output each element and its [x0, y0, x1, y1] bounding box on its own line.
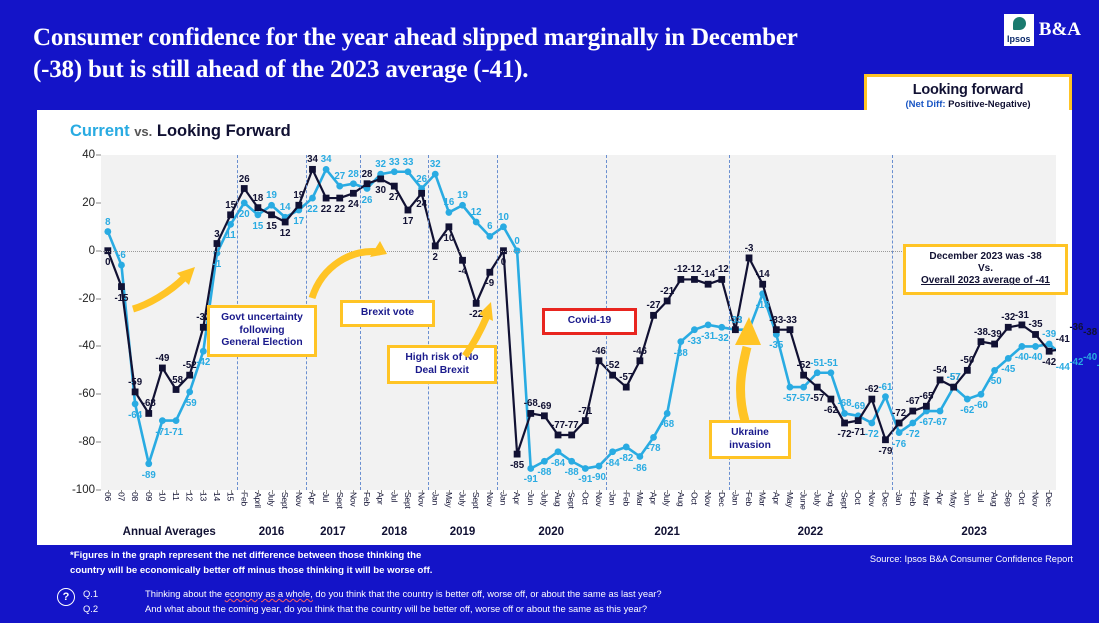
- x-axis-tick-label: Sep: [1003, 492, 1013, 506]
- x-axis-tick-label: July: [267, 492, 277, 506]
- data-label: -76: [892, 439, 906, 450]
- data-label: -14: [701, 269, 715, 280]
- x-axis-tick: [1036, 490, 1037, 494]
- data-label: -41: [1056, 334, 1070, 345]
- data-point-marker: [254, 204, 261, 211]
- data-label: -91: [524, 474, 538, 485]
- x-axis-tick-label: Feb: [621, 492, 631, 506]
- data-label: -71: [578, 406, 592, 417]
- summary-line-1: December 2023 was -38: [912, 251, 1059, 263]
- data-point-marker: [691, 276, 698, 283]
- x-axis-tick-label: Feb: [744, 492, 754, 506]
- data-point-marker: [336, 195, 343, 202]
- x-axis-tick-label: Feb: [362, 492, 372, 506]
- data-label: -72: [865, 429, 879, 440]
- x-axis-tick: [831, 490, 832, 494]
- data-label: -84: [606, 458, 620, 469]
- x-axis-group-label: 2022: [798, 526, 824, 538]
- y-axis-tick-label: 20: [61, 197, 95, 209]
- ipsos-blob-icon: [1013, 17, 1026, 30]
- x-axis-tick-label: Nov: [294, 492, 304, 506]
- data-point-marker: [814, 369, 821, 376]
- looking-forward-subheading: (Net Diff: Positive-Negative): [875, 99, 1061, 110]
- data-label: 27: [334, 171, 345, 182]
- x-axis-tick: [217, 490, 218, 494]
- questions-block: ? Q.1 Thinking about the economy as a wh…: [57, 586, 662, 616]
- x-axis-tick: [954, 490, 955, 494]
- x-axis-tick-label: June: [799, 492, 809, 509]
- data-label: -45: [1001, 364, 1015, 375]
- data-point-marker: [991, 341, 998, 348]
- x-axis-tick: [585, 490, 586, 494]
- data-point-marker: [268, 211, 275, 218]
- arrow-brexit-vote: [125, 265, 197, 317]
- data-label: -72: [838, 429, 852, 440]
- data-label: -77: [565, 420, 579, 431]
- data-label: -78: [647, 443, 661, 454]
- x-axis-tick: [654, 490, 655, 494]
- series-label-current: Current: [70, 122, 130, 140]
- data-label: 10: [498, 212, 509, 223]
- y-axis-tick-label: 0: [61, 245, 95, 257]
- series-label-looking-forward: Looking Forward: [157, 122, 291, 140]
- data-label: 14: [280, 202, 291, 213]
- x-axis-tick-label: Aug: [990, 492, 1000, 506]
- footnote-line-1: *Figures in the graph represent the net …: [70, 549, 590, 564]
- data-point-marker: [896, 429, 903, 436]
- x-axis-tick-label: Feb: [239, 492, 249, 506]
- data-label: -58: [169, 375, 183, 386]
- x-axis-tick: [312, 490, 313, 494]
- data-point-marker: [1046, 348, 1053, 355]
- summary-line-3: Overall 2023 average of -41: [912, 275, 1059, 287]
- data-point-marker: [254, 211, 261, 218]
- data-point-marker: [186, 372, 193, 379]
- data-point-marker: [405, 168, 412, 175]
- data-label: 30: [375, 185, 386, 196]
- x-axis-tick: [326, 490, 327, 494]
- data-label: -50: [988, 376, 1002, 387]
- data-label: 11: [225, 230, 235, 241]
- data-point-marker: [200, 324, 207, 331]
- q1-text: Thinking about the economy as a whole, d…: [145, 586, 662, 601]
- data-point-marker: [787, 384, 794, 391]
- data-label: -57: [810, 393, 824, 404]
- data-point-marker: [718, 276, 725, 283]
- data-point-marker: [909, 420, 916, 427]
- data-label: 22: [321, 204, 332, 215]
- q1-label: Q.1: [83, 586, 145, 601]
- x-axis-tick: [981, 490, 982, 494]
- data-label: -42: [1042, 357, 1056, 368]
- x-axis-tick-label: May: [444, 492, 454, 507]
- data-point-marker: [841, 410, 848, 417]
- data-label: 12: [471, 207, 482, 218]
- data-point-marker: [978, 338, 985, 345]
- x-axis-tick: [258, 490, 259, 494]
- data-point-marker: [1046, 341, 1053, 348]
- data-label: -35: [769, 340, 783, 351]
- data-label: 12: [280, 228, 291, 239]
- data-label: -52: [606, 360, 620, 371]
- question-row-1: Q.1 Thinking about the economy as a whol…: [83, 586, 662, 601]
- data-point-marker: [445, 209, 452, 216]
- data-label: -44: [1056, 362, 1070, 373]
- data-label: 0: [514, 236, 519, 247]
- data-label: 16: [444, 197, 455, 208]
- data-point-marker: [937, 377, 944, 384]
- x-axis-tick: [804, 490, 805, 494]
- data-label: 33: [389, 157, 400, 168]
- data-point-marker: [855, 417, 862, 424]
- data-label: -40: [1083, 352, 1097, 363]
- callout-govt-text: Govt uncertaintyfollowingGeneral Electio…: [221, 312, 303, 348]
- x-axis-tick: [490, 490, 491, 494]
- x-axis-tick: [885, 490, 886, 494]
- x-axis-tick: [381, 490, 382, 494]
- data-label: -12: [687, 264, 701, 275]
- x-axis-tick: [503, 490, 504, 494]
- data-label: -88: [565, 467, 579, 478]
- data-point-marker: [582, 417, 589, 424]
- data-label: -12: [715, 264, 729, 275]
- x-axis-tick-label: July: [812, 492, 822, 506]
- data-point-marker: [486, 269, 493, 276]
- data-label: -35: [1029, 319, 1043, 330]
- data-point-marker: [896, 420, 903, 427]
- data-label: -18: [756, 300, 770, 311]
- x-axis-tick-label: Sept: [840, 492, 850, 508]
- data-label: -33: [783, 315, 797, 326]
- data-point-marker: [636, 357, 643, 364]
- data-point-marker: [541, 458, 548, 465]
- data-point-marker: [405, 207, 412, 214]
- data-label: -51: [824, 358, 838, 369]
- x-axis-tick: [763, 490, 764, 494]
- data-label: -57: [947, 372, 961, 383]
- looking-forward-heading: Looking forward: [875, 82, 1061, 98]
- x-axis-tick-label: Nov: [348, 492, 358, 506]
- x-axis-tick: [449, 490, 450, 494]
- x-axis-tick: [531, 490, 532, 494]
- data-label: -85: [510, 460, 524, 471]
- x-axis-tick: [558, 490, 559, 494]
- question-mark-icon: ?: [57, 588, 75, 606]
- data-point-marker: [650, 312, 657, 319]
- data-label: 26: [416, 174, 427, 185]
- ipsos-ba-logo: Ipsos B&A: [1004, 14, 1081, 46]
- data-label: -62: [824, 405, 838, 416]
- x-axis-tick: [845, 490, 846, 494]
- data-point-marker: [623, 444, 630, 451]
- data-label: -14: [756, 269, 770, 280]
- data-label: -50: [960, 355, 974, 366]
- x-axis-tick: [749, 490, 750, 494]
- data-point-marker: [991, 367, 998, 374]
- callout-summary-2023: December 2023 was -38 Vs. Overall 2023 a…: [903, 244, 1068, 295]
- x-axis-tick: [667, 490, 668, 494]
- data-point-marker: [964, 396, 971, 403]
- x-axis-tick: [299, 490, 300, 494]
- data-point-marker: [596, 357, 603, 364]
- x-axis-tick-label: Dec: [717, 492, 727, 506]
- data-point-marker: [118, 262, 125, 269]
- data-label: 19: [293, 190, 304, 201]
- data-label: 33: [403, 157, 414, 168]
- data-label: -51: [810, 358, 824, 369]
- data-label: 10: [444, 233, 455, 244]
- data-label: -61: [878, 382, 892, 393]
- data-point-marker: [432, 171, 439, 178]
- ipsos-wordmark: Ipsos: [1007, 34, 1031, 44]
- data-label: -36: [1069, 322, 1083, 333]
- x-axis-tick: [735, 490, 736, 494]
- data-point-marker: [677, 276, 684, 283]
- data-label: -68: [142, 398, 156, 409]
- data-point-marker: [1018, 321, 1025, 328]
- y-axis-tick-label: -100: [61, 484, 95, 496]
- data-point-marker: [323, 195, 330, 202]
- data-point-marker: [118, 283, 125, 290]
- x-axis-tick: [408, 490, 409, 494]
- x-axis-tick: [940, 490, 941, 494]
- x-axis-tick: [599, 490, 600, 494]
- x-axis-tick-label: Mar: [921, 492, 931, 506]
- y-axis: 40200-20-40-60-80-100: [65, 155, 99, 490]
- arrow-govt-uncertainty: [292, 238, 387, 323]
- data-label: 32: [375, 159, 386, 170]
- data-label: -46: [592, 346, 606, 357]
- x-axis-tick: [626, 490, 627, 494]
- data-label: -62: [865, 384, 879, 395]
- x-axis-tick: [613, 490, 614, 494]
- q1-text-a: Thinking about the: [145, 588, 225, 599]
- data-label: -67: [933, 417, 947, 428]
- data-label: -42: [1069, 357, 1083, 368]
- data-point-marker: [159, 417, 166, 424]
- data-point-marker: [145, 460, 152, 467]
- data-point-marker: [132, 388, 139, 395]
- data-point-marker: [746, 254, 753, 261]
- data-point-marker: [350, 180, 357, 187]
- data-point-marker: [882, 436, 889, 443]
- chart-panel: Current vs. Looking Forward 40200-20-40-…: [37, 110, 1072, 545]
- data-label: -12: [674, 264, 688, 275]
- x-axis-tick-label: Nov: [1031, 492, 1041, 506]
- data-point-marker: [691, 326, 698, 333]
- data-point-marker: [841, 420, 848, 427]
- data-label: -68: [524, 398, 538, 409]
- x-axis-tick-label: Sept: [471, 492, 481, 508]
- x-axis-group-label: 2017: [320, 526, 346, 538]
- x-axis-tick: [394, 490, 395, 494]
- data-label: -57: [783, 393, 797, 404]
- data-label: -68: [660, 419, 674, 430]
- data-label: -59: [128, 377, 142, 388]
- data-point-marker: [827, 396, 834, 403]
- data-label: -38: [974, 327, 988, 338]
- data-point-marker: [377, 176, 384, 183]
- data-point-marker: [459, 257, 466, 264]
- data-label: -42: [196, 357, 210, 368]
- data-label: -69: [851, 401, 865, 412]
- data-label: 6: [487, 221, 492, 232]
- vs-label: vs.: [134, 124, 152, 139]
- x-axis-tick-label: Sept: [403, 492, 413, 508]
- x-axis-tick: [435, 490, 436, 494]
- x-axis-tick: [108, 490, 109, 494]
- ba-wordmark: B&A: [1039, 19, 1081, 41]
- data-point-marker: [568, 458, 575, 465]
- x-axis-tick: [913, 490, 914, 494]
- y-axis-tick-label: -20: [61, 293, 95, 305]
- data-point-marker: [459, 202, 466, 209]
- data-label: -4: [458, 266, 467, 277]
- q2-text: And what about the coming year, do you t…: [145, 601, 647, 616]
- positive-negative-label: Positive-Negative): [946, 99, 1031, 110]
- data-label: -77: [551, 420, 565, 431]
- data-label: -54: [933, 365, 947, 376]
- x-axis-tick: [285, 490, 286, 494]
- data-point-marker: [705, 321, 712, 328]
- arrow-no-deal-brexit: [457, 300, 497, 360]
- data-label: 17: [293, 216, 304, 227]
- data-label: -33: [687, 336, 701, 347]
- data-point-marker: [527, 410, 534, 417]
- x-axis-group-label: 2023: [961, 526, 987, 538]
- callout-covid-text: Covid-19: [568, 315, 612, 326]
- y-axis-tick-label: 40: [61, 149, 95, 161]
- y-axis-tick-label: -40: [61, 340, 95, 352]
- data-label: -40: [1015, 352, 1029, 363]
- data-label: -60: [974, 400, 988, 411]
- x-axis-tick-label: Mar: [758, 492, 768, 506]
- data-point-marker: [282, 219, 289, 226]
- x-axis-tick-label: May: [949, 492, 959, 507]
- data-label: 20: [239, 209, 250, 220]
- data-point-marker: [882, 393, 889, 400]
- data-point-marker: [773, 326, 780, 333]
- data-point-marker: [214, 240, 221, 247]
- data-point-marker: [173, 417, 180, 424]
- x-axis-tick: [572, 490, 573, 494]
- data-point-marker: [555, 448, 562, 455]
- data-label: -1: [213, 259, 222, 270]
- data-point-marker: [868, 396, 875, 403]
- data-point-marker: [1005, 324, 1012, 331]
- data-point-marker: [582, 465, 589, 472]
- page-title: Consumer confidence for the year ahead s…: [33, 22, 833, 86]
- data-point-marker: [350, 190, 357, 197]
- data-point-marker: [555, 432, 562, 439]
- x-axis-tick-label: Sept: [335, 492, 345, 508]
- x-axis-tick: [231, 490, 232, 494]
- data-label: -68: [838, 398, 852, 409]
- x-axis-group-label: 2021: [654, 526, 680, 538]
- x-axis-tick: [872, 490, 873, 494]
- x-axis-group-label: 2019: [450, 526, 476, 538]
- callout-covid19: Covid-19: [542, 308, 637, 335]
- x-axis: 06070809101112131415FebAprilJulySeptNovA…: [101, 490, 1056, 542]
- data-point-marker: [486, 233, 493, 240]
- data-point-marker: [596, 463, 603, 470]
- data-label: 18: [253, 193, 264, 204]
- data-label: -72: [892, 408, 906, 419]
- q1-text-emphasis: economy as a whole,: [225, 588, 313, 599]
- data-point-marker: [227, 211, 234, 218]
- data-label: -31: [701, 331, 715, 342]
- data-label: -9: [486, 278, 495, 289]
- data-point-marker: [1018, 343, 1025, 350]
- x-axis-tick: [422, 490, 423, 494]
- x-axis-tick: [353, 490, 354, 494]
- data-label: -65: [919, 391, 933, 402]
- callout-ukraine-invasion: Ukraineinvasion: [709, 420, 791, 459]
- data-point-marker: [527, 465, 534, 472]
- x-axis-tick: [149, 490, 150, 494]
- x-axis-tick: [722, 490, 723, 494]
- x-axis-tick: [340, 490, 341, 494]
- data-point-marker: [541, 412, 548, 419]
- data-point-marker: [664, 410, 671, 417]
- x-axis-group-label: 2018: [382, 526, 408, 538]
- data-point-marker: [1005, 355, 1012, 362]
- x-axis-tick-label: Sept: [567, 492, 577, 508]
- data-label: -59: [183, 398, 197, 409]
- data-label: -79: [878, 446, 892, 457]
- x-axis-tick: [708, 490, 709, 494]
- x-axis-tick: [1022, 490, 1023, 494]
- data-label: -64: [128, 410, 142, 421]
- x-axis-tick-label: April: [253, 492, 263, 508]
- data-point-marker: [200, 348, 207, 355]
- data-label: -72: [906, 429, 920, 440]
- x-axis-tick-label: Aug: [826, 492, 836, 506]
- data-label: -40: [1029, 352, 1043, 363]
- x-axis-tick: [1008, 490, 1009, 494]
- data-point-marker: [364, 180, 371, 187]
- data-point-marker: [309, 166, 316, 173]
- data-label: -49: [155, 353, 169, 364]
- q2-label: Q.2: [83, 601, 145, 616]
- data-label: -38: [1083, 327, 1097, 338]
- data-point-marker: [650, 434, 657, 441]
- x-axis-group-label: 2020: [538, 526, 564, 538]
- x-axis-tick: [1049, 490, 1050, 494]
- x-axis-tick: [162, 490, 163, 494]
- data-label: 15: [266, 221, 277, 232]
- x-axis-tick-label: Aug: [676, 492, 686, 506]
- x-axis-tick: [190, 490, 191, 494]
- data-label: -57: [619, 372, 633, 383]
- x-axis-tick-label: Dec: [880, 492, 890, 506]
- x-axis-group-label: Annual Averages: [123, 526, 216, 538]
- data-label: 8: [105, 217, 110, 228]
- data-label: 34: [321, 154, 332, 165]
- callout-ukraine-text: Ukraineinvasion: [729, 427, 771, 451]
- x-axis-tick: [544, 490, 545, 494]
- data-point-marker: [418, 190, 425, 197]
- data-label: -71: [169, 427, 183, 438]
- x-axis-tick: [476, 490, 477, 494]
- x-axis-tick: [858, 490, 859, 494]
- data-label: -82: [619, 453, 633, 464]
- x-axis-tick: [995, 490, 996, 494]
- data-point-marker: [295, 202, 302, 209]
- x-axis-tick-label: Mar: [635, 492, 645, 506]
- data-point-marker: [609, 372, 616, 379]
- data-label: -39: [1042, 329, 1056, 340]
